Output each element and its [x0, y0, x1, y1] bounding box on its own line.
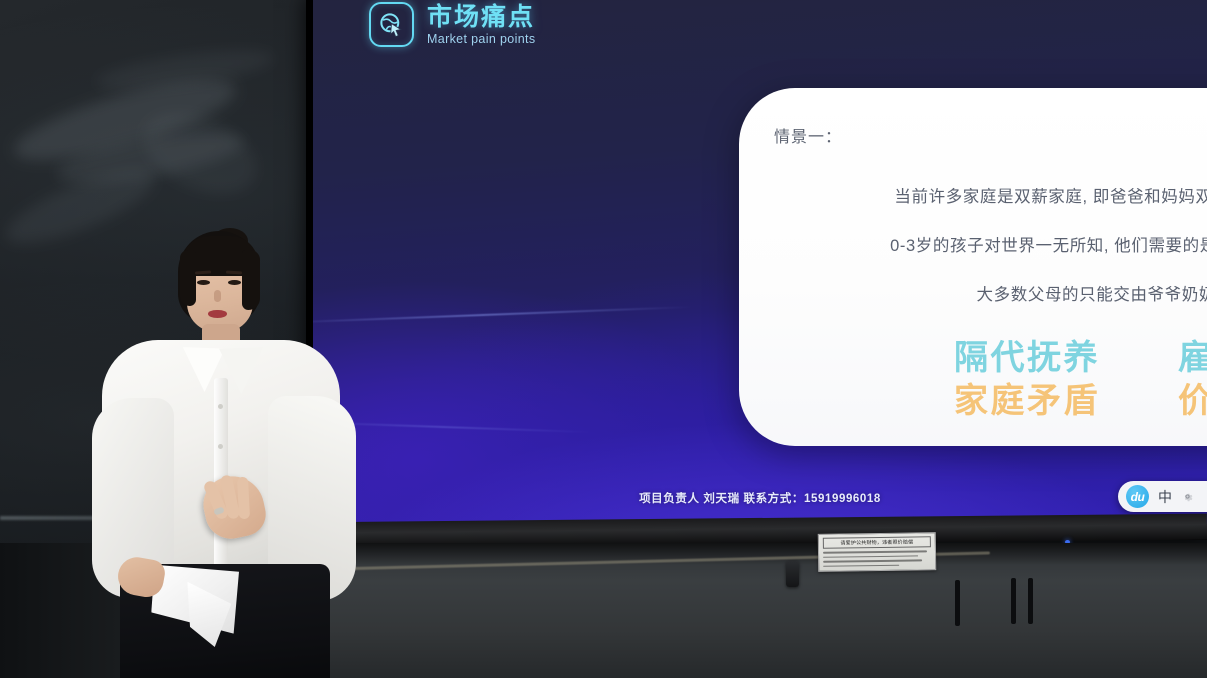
body-line-2: 0-3岁的孩子对世界一无所知, 他们需要的是父母双方带来的呵护感 [739, 232, 1207, 256]
eye-right [228, 280, 241, 285]
background-light-streak [313, 306, 693, 324]
notice-label-title: 请爱护公共财物，违者照价赔偿 [823, 536, 931, 549]
keyword-group: 隔代抚养 家庭矛盾 雇佣月嫂 价格高昂 [739, 338, 1207, 423]
body-line-3: 大多数父母的只能交由爷爷奶奶、月嫂来带 [739, 281, 1207, 305]
gear-icon[interactable] [1181, 490, 1194, 503]
slide-content-card: 情景一： 当前许多家庭是双薪家庭, 即爸爸和妈妈双方都有沉重的工作负担 0-3岁… [739, 88, 1207, 446]
shirt-button [218, 404, 223, 409]
slide-footer-contact: 项目负责人 刘天瑞 联系方式：15919996018 [313, 490, 1207, 506]
keyword-column-1: 隔代抚养 家庭矛盾 [954, 338, 1100, 423]
nose [214, 290, 221, 302]
hair-side-left [180, 250, 196, 306]
presenter-person [92, 228, 362, 678]
stand-leg [955, 580, 960, 626]
scene-label: 情景一： [774, 123, 842, 147]
notice-label-line [823, 550, 927, 553]
notice-label-line [823, 560, 922, 563]
keyword-2-top: 雇佣月嫂 [1178, 338, 1207, 379]
tv-screen[interactable]: 市场痛点 Market pain points 情景一： 当前许多家庭是双薪家庭… [313, 0, 1207, 524]
stand-leg [1011, 578, 1016, 624]
notice-label-line [823, 555, 918, 558]
globe-cursor-icon [369, 2, 414, 47]
stand-leg [1028, 578, 1033, 624]
ime-toolbar[interactable]: du 中 [1118, 481, 1207, 512]
body-line-1: 当前许多家庭是双薪家庭, 即爸爸和妈妈双方都有沉重的工作负担 [739, 183, 1207, 207]
chalk-smudge [131, 97, 269, 210]
hair-side-right [242, 250, 260, 310]
chalk-smudge [53, 124, 246, 192]
notice-label-line [823, 564, 899, 567]
notice-label: 请爱护公共财物，违者照价赔偿 [818, 532, 937, 572]
chalk-smudge [8, 64, 243, 175]
keyword-2-bottom: 价格高昂 [1178, 381, 1207, 422]
slide-subtitle: Market pain points [427, 32, 535, 46]
slide-header-text: 市场痛点 Market pain points [427, 3, 535, 46]
keyword-1-top: 隔代抚养 [954, 338, 1100, 379]
baidu-logo-icon[interactable]: du [1126, 485, 1149, 508]
slide-title: 市场痛点 [427, 3, 535, 31]
eye-left [197, 280, 210, 285]
keyword-1-bottom: 家庭矛盾 [954, 381, 1100, 422]
slide-header: 市场痛点 Market pain points [369, 2, 535, 47]
mouth [208, 310, 227, 318]
ime-mode-indicator[interactable]: 中 [1158, 487, 1172, 507]
keyword-column-2: 雇佣月嫂 价格高昂 [1178, 338, 1207, 423]
remote-control[interactable] [786, 561, 799, 587]
chalk-smudge [94, 43, 276, 98]
shirt-button [218, 444, 223, 449]
finger [237, 477, 250, 520]
screenshot-scene: 市场痛点 Market pain points 情景一： 当前许多家庭是双薪家庭… [0, 0, 1207, 678]
